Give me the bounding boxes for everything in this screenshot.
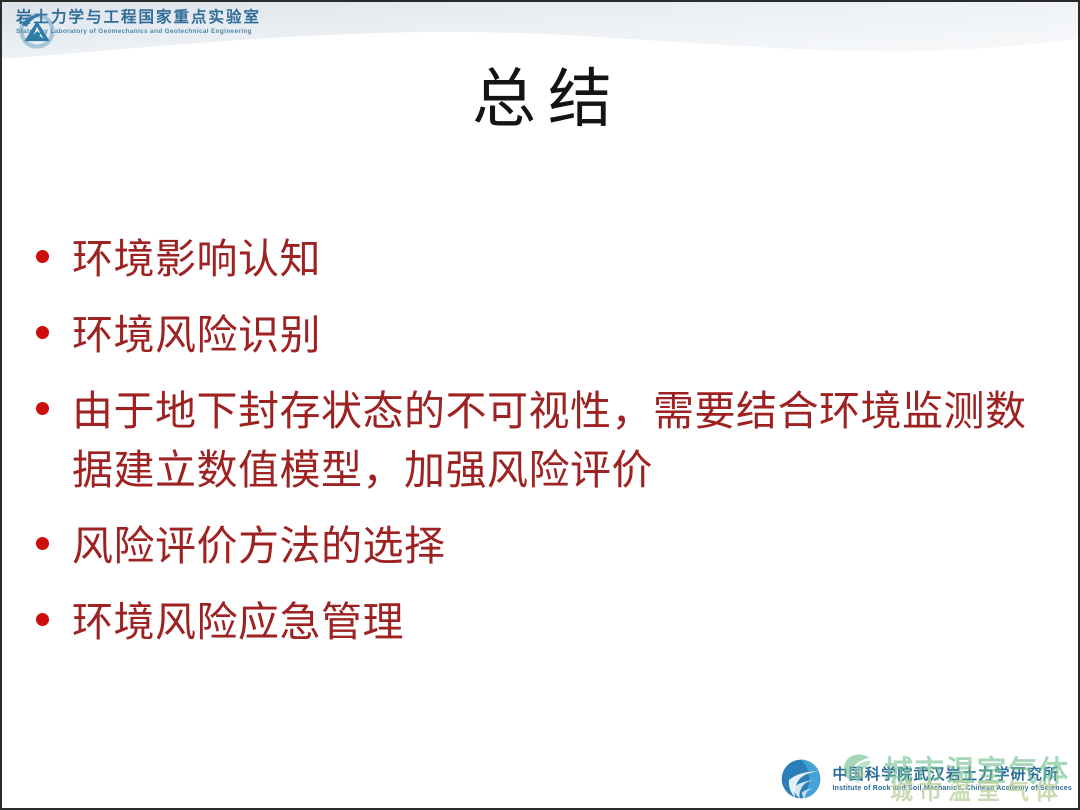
bullet-dot-icon (36, 537, 49, 550)
bullet-text: 由于地下封存状态的不可视性，需要结合环境监测数据建立数值模型，加强风险评价 (72, 382, 1047, 498)
institute-name-block: 中国科学院武汉岩土力学研究所 Institute of Rock and Soi… (832, 767, 1072, 792)
institute-name-cn: 中国科学院武汉岩土力学研究所 (832, 767, 1072, 782)
institute-name-en: Institute of Rock and Soil Mechanics, Ch… (832, 785, 1072, 792)
bullet-text: 环境风险识别 (72, 306, 321, 364)
list-item: 环境风险识别 (36, 306, 1056, 364)
list-item: 由于地下封存状态的不可视性，需要结合环境监测数据建立数值模型，加强风险评价 (36, 382, 1056, 498)
bullet-text: 风险评价方法的选择 (72, 517, 446, 575)
footer-branding: 中国科学院武汉岩土力学研究所 Institute of Rock and Soi… (778, 756, 1072, 802)
mountain-circle-logo-icon (16, 10, 58, 52)
list-item: 风险评价方法的选择 (36, 517, 1056, 575)
bullet-text: 环境风险应急管理 (72, 593, 404, 651)
bullet-dot-icon (36, 613, 49, 626)
list-item: 环境影响认知 (36, 230, 1056, 288)
list-item: 环境风险应急管理 (36, 593, 1056, 651)
slide-title: 总结 (2, 60, 1080, 140)
presentation-slide: 岩土力学与工程国家重点实验室 State Key Laboratory of G… (0, 0, 1080, 810)
bullet-list: 环境影响认知 环境风险识别 由于地下封存状态的不可视性，需要结合环境监测数据建立… (36, 230, 1056, 669)
bullet-text: 环境影响认知 (72, 230, 321, 288)
bullet-dot-icon (36, 250, 49, 263)
spiral-globe-logo-icon (778, 756, 824, 802)
bullet-dot-icon (36, 326, 49, 339)
bullet-dot-icon (36, 402, 49, 415)
header-branding: 岩土力学与工程国家重点实验室 State Key Laboratory of G… (16, 10, 261, 35)
